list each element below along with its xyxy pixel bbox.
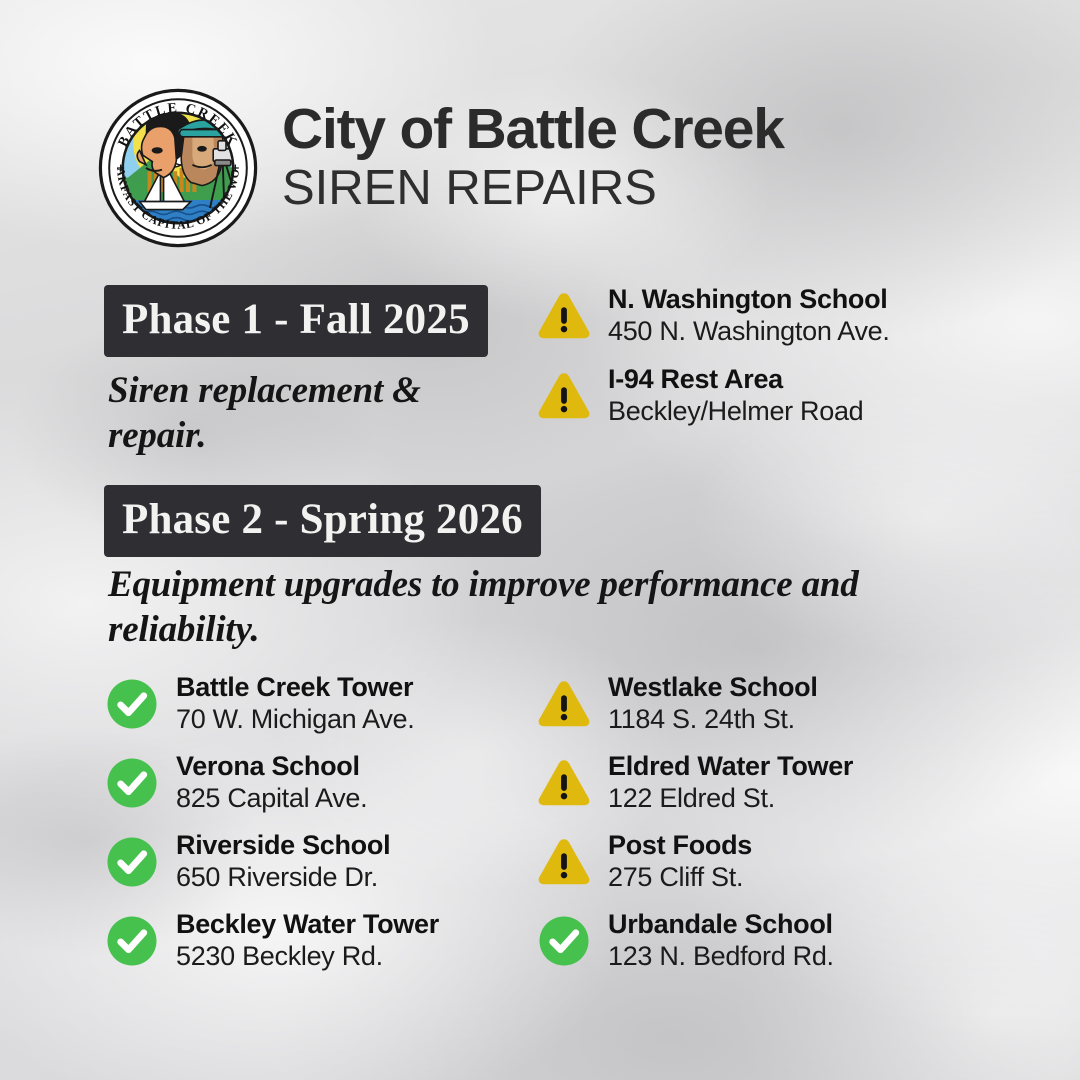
list-item-name: Beckley Water Tower [176, 909, 439, 939]
list-item-text: Battle Creek Tower 70 W. Michigan Ave. [176, 672, 414, 736]
check-circle-icon [104, 834, 160, 890]
list-item-address: 70 W. Michigan Ave. [176, 704, 414, 736]
list-item-address: 5230 Beckley Rd. [176, 941, 439, 973]
list-item-text: Beckley Water Tower 5230 Beckley Rd. [176, 909, 439, 973]
list-item-text: N. Washington School 450 N. Washington A… [608, 284, 890, 348]
list-item-name: Westlake School [608, 672, 818, 702]
warning-triangle-icon [536, 834, 592, 890]
list-item-text: Eldred Water Tower 122 Eldred St. [608, 751, 853, 815]
city-seal-icon: BATTLE CREEK BREAKFAST CAPITAL OF THE WO… [98, 88, 258, 248]
list-item-address: 275 Cliff St. [608, 862, 752, 894]
list-item-address: Beckley/Helmer Road [608, 396, 863, 428]
list-item-text: Westlake School 1184 S. 24th St. [608, 672, 818, 736]
list-item-address: 650 Riverside Dr. [176, 862, 390, 894]
list-item-name: I-94 Rest Area [608, 364, 863, 394]
warning-triangle-icon [536, 288, 592, 344]
phase-1-banner: Phase 1 - Fall 2025 [104, 285, 488, 357]
list-item-name: Urbandale School [608, 909, 834, 939]
list-item: Urbandale School 123 N. Bedford Rd. [536, 909, 834, 973]
list-item: Beckley Water Tower 5230 Beckley Rd. [104, 909, 439, 973]
list-item-text: Riverside School 650 Riverside Dr. [176, 830, 390, 894]
phase-1-description: Siren replacement & repair. [108, 368, 528, 458]
list-item-text: Urbandale School 123 N. Bedford Rd. [608, 909, 834, 973]
list-item-address: 450 N. Washington Ave. [608, 316, 890, 348]
list-item-text: I-94 Rest Area Beckley/Helmer Road [608, 364, 863, 428]
list-item-name: Riverside School [176, 830, 390, 860]
list-item-name: N. Washington School [608, 284, 890, 314]
list-item-address: 122 Eldred St. [608, 783, 853, 815]
list-item: Battle Creek Tower 70 W. Michigan Ave. [104, 672, 414, 736]
list-item-address: 1184 S. 24th St. [608, 704, 818, 736]
list-item: Post Foods 275 Cliff St. [536, 830, 752, 894]
header-titles: City of Battle Creek SIREN REPAIRS [282, 100, 784, 216]
list-item: Riverside School 650 Riverside Dr. [104, 830, 390, 894]
page-header: BATTLE CREEK BREAKFAST CAPITAL OF THE WO… [98, 88, 784, 248]
list-item-text: Verona School 825 Capital Ave. [176, 751, 367, 815]
check-circle-icon [104, 676, 160, 732]
list-item: Eldred Water Tower 122 Eldred St. [536, 751, 853, 815]
page-title: City of Battle Creek [282, 100, 784, 158]
page-subtitle: SIREN REPAIRS [282, 161, 784, 216]
list-item-name: Battle Creek Tower [176, 672, 414, 702]
list-item: I-94 Rest Area Beckley/Helmer Road [536, 364, 863, 428]
phase-2-description: Equipment upgrades to improve performanc… [108, 562, 938, 652]
list-item-name: Post Foods [608, 830, 752, 860]
check-circle-icon [104, 913, 160, 969]
phase-2-banner: Phase 2 - Spring 2026 [104, 485, 541, 557]
check-circle-icon [536, 913, 592, 969]
warning-triangle-icon [536, 755, 592, 811]
list-item-name: Eldred Water Tower [608, 751, 853, 781]
list-item-name: Verona School [176, 751, 367, 781]
list-item-address: 825 Capital Ave. [176, 783, 367, 815]
list-item-address: 123 N. Bedford Rd. [608, 941, 834, 973]
warning-triangle-icon [536, 368, 592, 424]
list-item: Westlake School 1184 S. 24th St. [536, 672, 818, 736]
list-item-text: Post Foods 275 Cliff St. [608, 830, 752, 894]
list-item: N. Washington School 450 N. Washington A… [536, 284, 890, 348]
siren-repairs-infographic: BATTLE CREEK BREAKFAST CAPITAL OF THE WO… [0, 0, 1080, 1080]
check-circle-icon [104, 755, 160, 811]
warning-triangle-icon [536, 676, 592, 732]
list-item: Verona School 825 Capital Ave. [104, 751, 367, 815]
